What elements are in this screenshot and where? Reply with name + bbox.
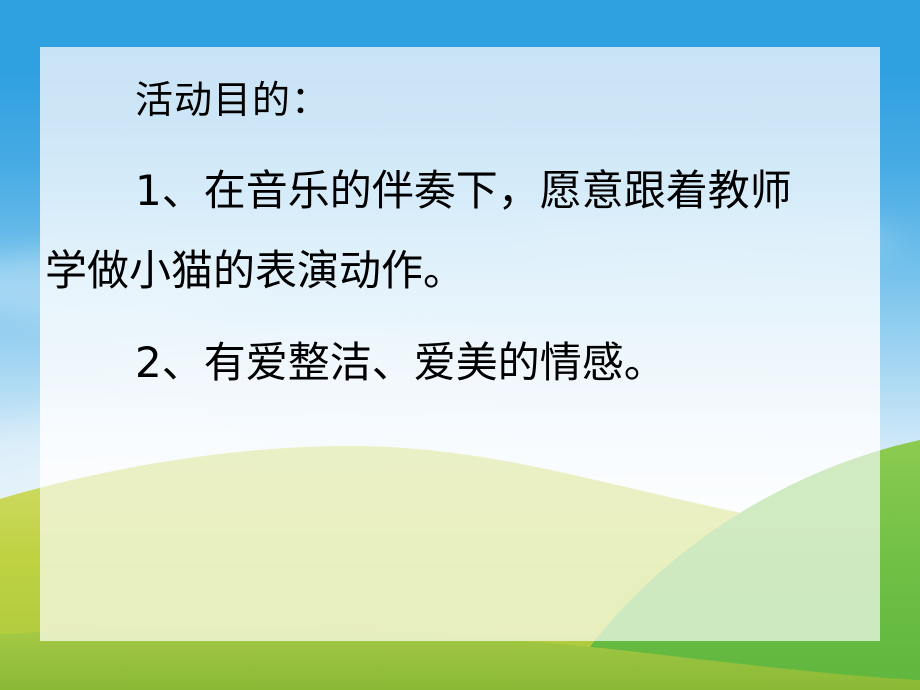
content-panel: 活动目的： 1、在音乐的伴奏下，愿意跟着教师 学做小猫的表演动作。 2、有爱整洁…: [40, 47, 880, 641]
hill-left-overlay: [40, 446, 880, 641]
objective-1-line-1: 1、在音乐的伴奏下，愿意跟着教师: [135, 157, 792, 218]
objective-2: 2、有爱整洁、爱美的情感。: [135, 329, 666, 390]
slide-canvas: 活动目的： 1、在音乐的伴奏下，愿意跟着教师 学做小猫的表演动作。 2、有爱整洁…: [0, 0, 920, 690]
objective-1-line-2: 学做小猫的表演动作。: [45, 237, 465, 298]
hill-right-overlay: [560, 440, 880, 641]
slide-heading: 活动目的：: [135, 69, 330, 124]
